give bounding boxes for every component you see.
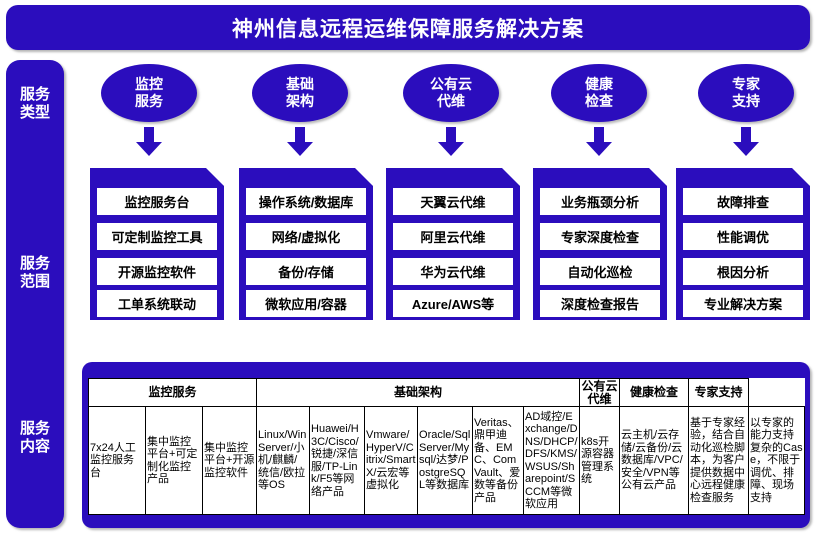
arrow-down-icon-5: [733, 127, 759, 157]
scope-item[interactable]: 工单系统联动: [97, 290, 217, 317]
arrow-down-icon-2: [287, 127, 313, 157]
table-row: 7x24人工监控服务台集中监控平台+可定制化监控产品集中监控平台+开源监控软件L…: [89, 407, 805, 515]
scope-item[interactable]: 专家深度检查: [540, 223, 660, 250]
scope-item[interactable]: 可定制监控工具: [97, 223, 217, 250]
scope-item[interactable]: 监控服务台: [97, 188, 217, 215]
scope-item[interactable]: 根因分析: [683, 258, 803, 285]
table-header-row: 监控服务基础架构公有云代维健康检查专家支持: [89, 379, 805, 407]
service-content-table: 监控服务基础架构公有云代维健康检查专家支持 7x24人工监控服务台集中监控平台+…: [88, 378, 805, 515]
scope-item[interactable]: 备份/存储: [246, 258, 366, 285]
page-title: 神州信息远程运维保障服务解决方案: [6, 5, 810, 50]
table-cell[interactable]: Vmware/HyperV/Citrix/SmartX/云宏等虚拟化: [365, 407, 418, 515]
scope-item[interactable]: 微软应用/容器: [246, 290, 366, 317]
arrow-down-icon-4: [586, 127, 612, 157]
scope-item[interactable]: 网络/虚拟化: [246, 223, 366, 250]
scope-item[interactable]: 天翼云代维: [393, 188, 513, 215]
service-content-panel: 监控服务基础架构公有云代维健康检查专家支持 7x24人工监控服务台集中监控平台+…: [82, 362, 810, 528]
scope-item[interactable]: 深度检查报告: [540, 290, 660, 317]
scope-card-infrastructure: 操作系统/数据库 网络/虚拟化 备份/存储 微软应用/容器: [239, 168, 373, 320]
table-cell[interactable]: k8s开源容器管理系统: [580, 407, 620, 515]
scope-item[interactable]: 阿里云代维: [393, 223, 513, 250]
scope-item[interactable]: 故障排查: [683, 188, 803, 215]
category-ellipse-infrastructure[interactable]: 基础架构: [252, 64, 348, 122]
table-cell[interactable]: 7x24人工监控服务台: [89, 407, 146, 515]
scope-item[interactable]: Azure/AWS等: [393, 290, 513, 317]
table-group-header: 公有云代维: [580, 379, 620, 407]
table-cell[interactable]: 集中监控平台+开源监控软件: [203, 407, 257, 515]
scope-item[interactable]: 专业解决方案: [683, 290, 803, 317]
left-rail: 服务类型 服务范围 服务内容: [6, 60, 64, 528]
scope-item[interactable]: 性能调优: [683, 223, 803, 250]
table-group-header: 专家支持: [689, 379, 749, 407]
scope-card-expert-support: 故障排查 性能调优 根因分析 专业解决方案: [676, 168, 810, 320]
table-cell[interactable]: 云主机/云存储/云备份/云数据库/VPC/安全/VPN等公有云产品: [620, 407, 689, 515]
table-cell[interactable]: 以专家的能力支持复杂的Case，不限于调优、排障、现场支持: [749, 407, 805, 515]
category-ellipse-expert-support[interactable]: 专家支持: [698, 64, 794, 122]
arrow-down-icon-3: [438, 127, 464, 157]
scope-card-monitoring: 监控服务台 可定制监控工具 开源监控软件 工单系统联动: [90, 168, 224, 320]
category-ellipse-health-check[interactable]: 健康检查: [551, 64, 647, 122]
scope-card-health-check: 业务瓶颈分析 专家深度检查 自动化巡检 深度检查报告: [533, 168, 667, 320]
rail-label-service-type: 服务类型: [6, 86, 64, 122]
table-group-header: 基础架构: [257, 379, 580, 407]
scope-item[interactable]: 开源监控软件: [97, 258, 217, 285]
table-group-header: 监控服务: [89, 379, 257, 407]
rail-label-service-scope: 服务范围: [6, 255, 64, 291]
table-cell[interactable]: Linux/WinServer/小机/麒麟/统信/欧拉等OS: [257, 407, 310, 515]
table-cell[interactable]: Veritas、鼎甲迪备、EMC、ComVault、爱数等备份产品: [473, 407, 524, 515]
scope-item[interactable]: 操作系统/数据库: [246, 188, 366, 215]
category-ellipse-public-cloud[interactable]: 公有云代维: [403, 64, 499, 122]
scope-item[interactable]: 自动化巡检: [540, 258, 660, 285]
table-cell[interactable]: AD域控/Exchange/DNS/DHCP/DFS/KMS/WSUS/Shar…: [524, 407, 580, 515]
table-cell[interactable]: 集中监控平台+可定制化监控产品: [146, 407, 203, 515]
scope-card-public-cloud: 天翼云代维 阿里云代维 华为云代维 Azure/AWS等: [386, 168, 520, 320]
table-cell[interactable]: Huawei/H3C/Cisco/锐捷/深信服/TP-Link/F5等网络产品: [310, 407, 365, 515]
table-cell[interactable]: 基于专家经验，结合自动化巡检脚本，为客户提供数据中心远程健康检查服务: [689, 407, 749, 515]
rail-label-service-content: 服务内容: [6, 420, 64, 456]
category-ellipse-monitoring[interactable]: 监控服务: [101, 64, 197, 122]
table-cell[interactable]: Oracle/SqlServer/Mysql/达梦/PostgreSQL等数据库: [418, 407, 473, 515]
arrow-down-icon-1: [136, 127, 162, 157]
diagram-canvas: 神州信息远程运维保障服务解决方案 服务类型 服务范围 服务内容 监控服务 基础架…: [0, 0, 816, 533]
scope-item[interactable]: 华为云代维: [393, 258, 513, 285]
scope-item[interactable]: 业务瓶颈分析: [540, 188, 660, 215]
table-group-header: 健康检查: [620, 379, 689, 407]
